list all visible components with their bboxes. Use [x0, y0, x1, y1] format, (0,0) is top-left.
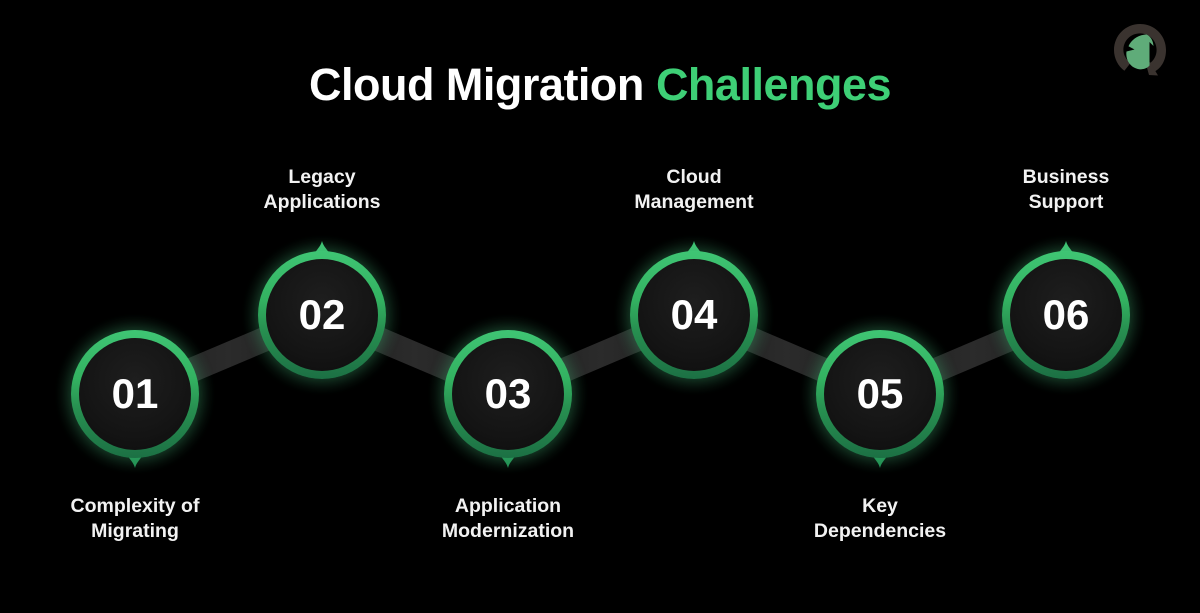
step-label-line1: Cloud — [579, 165, 809, 190]
step-label-line1: Application — [393, 494, 623, 519]
step-label-line2: Applications — [207, 190, 437, 215]
node-ring: 05 — [816, 330, 944, 458]
step-label-03: ApplicationModernization — [393, 494, 623, 544]
node-inner-disc: 02 — [266, 259, 378, 371]
step-label-02: LegacyApplications — [207, 165, 437, 215]
step-node-06[interactable]: 06 — [991, 240, 1141, 390]
node-ring: 01 — [71, 330, 199, 458]
step-label-line2: Modernization — [393, 519, 623, 544]
node-number: 01 — [112, 373, 159, 415]
node-number: 04 — [671, 294, 718, 336]
node-number: 06 — [1043, 294, 1090, 336]
step-label-line1: Legacy — [207, 165, 437, 190]
step-node-05[interactable]: 05 — [805, 319, 955, 469]
step-node-04[interactable]: 04 — [619, 240, 769, 390]
node-ring: 03 — [444, 330, 572, 458]
node-number: 02 — [299, 294, 346, 336]
step-label-line1: Key — [765, 494, 995, 519]
node-number: 05 — [857, 373, 904, 415]
step-label-line2: Migrating — [20, 519, 250, 544]
step-node-02[interactable]: 02 — [247, 240, 397, 390]
node-ring: 04 — [630, 251, 758, 379]
node-inner-disc: 04 — [638, 259, 750, 371]
node-inner-disc: 01 — [79, 338, 191, 450]
node-number: 03 — [485, 373, 532, 415]
step-label-06: BusinessSupport — [951, 165, 1181, 215]
step-node-01[interactable]: 01 — [60, 319, 210, 469]
step-label-line1: Complexity of — [20, 494, 250, 519]
step-label-01: Complexity ofMigrating — [20, 494, 250, 544]
node-ring: 02 — [258, 251, 386, 379]
step-label-line2: Support — [951, 190, 1181, 215]
node-inner-disc: 03 — [452, 338, 564, 450]
step-label-line1: Business — [951, 165, 1181, 190]
infographic-canvas: Cloud Migration Challenges — [0, 0, 1200, 613]
step-label-04: CloudManagement — [579, 165, 809, 215]
node-inner-disc: 06 — [1010, 259, 1122, 371]
node-inner-disc: 05 — [824, 338, 936, 450]
step-node-03[interactable]: 03 — [433, 319, 583, 469]
step-label-line2: Dependencies — [765, 519, 995, 544]
node-ring: 06 — [1002, 251, 1130, 379]
step-label-line2: Management — [579, 190, 809, 215]
step-label-05: KeyDependencies — [765, 494, 995, 544]
